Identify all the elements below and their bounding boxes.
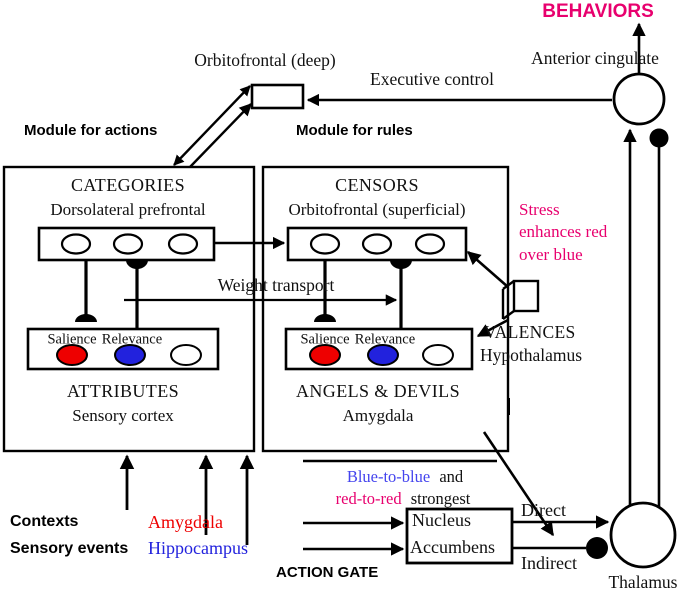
angels-devils-node-relevance	[368, 345, 398, 365]
attributes-node-neutral	[171, 345, 201, 365]
categories-title: CATEGORIES	[71, 175, 185, 195]
orbitofrontal-to-actions-bidirectional	[174, 86, 250, 165]
figure-canvas: BEHAVIORS Orbitofrontal (deep) Anterior …	[0, 0, 677, 599]
thalamus-label: Thalamus	[608, 572, 677, 592]
angels-devils-node-neutral	[423, 345, 453, 365]
attributes-salience-label: Salience	[47, 331, 96, 347]
actions-to-orbitofrontal-arrow	[190, 104, 251, 167]
contexts-label: Contexts	[10, 513, 79, 530]
module-for-actions-label: Module for actions	[24, 122, 157, 139]
strongest-text: strongest	[411, 489, 471, 508]
module-for-rules-label: Module for rules	[296, 122, 413, 139]
hypothalamus-label: Hypothalamus	[480, 345, 582, 365]
valences-box	[514, 281, 538, 311]
stress-label-line1: Stress	[519, 200, 560, 219]
anterior-cingulate-label: Anterior cingulate	[531, 48, 659, 68]
censors-title: CENSORS	[335, 175, 419, 195]
behaviors-title: BEHAVIORS	[542, 1, 654, 22]
and-text: and	[439, 467, 464, 486]
amygdala-input-label: Amygdala	[148, 512, 223, 532]
angels-devils-salience-label: Salience	[300, 331, 349, 347]
indirect-pathway-terminal	[586, 537, 608, 559]
categories-subtitle: Dorsolateral prefrontal	[50, 200, 206, 219]
angels-devils-title: ANGELS & DEVILS	[296, 381, 460, 401]
nucleus-label: Nucleus	[412, 510, 471, 530]
action-gate-label: ACTION GATE	[276, 564, 378, 581]
stress-label-line2: enhances red	[519, 222, 608, 241]
weight-transport-label: Weight transport	[218, 275, 335, 295]
cingulate-inhibitory-terminal	[650, 129, 669, 148]
direct-label: Direct	[521, 500, 566, 520]
angels-devils-relevance-label: Relevance	[355, 331, 415, 347]
blue-to-blue-annotation: Blue-to-blue and	[347, 467, 464, 486]
categories-node-3	[169, 235, 197, 254]
diagram-svg: BEHAVIORS Orbitofrontal (deep) Anterior …	[0, 0, 677, 599]
censors-node-2	[363, 235, 391, 254]
attributes-subtitle: Sensory cortex	[72, 406, 174, 425]
valences-label: VALENCES	[484, 322, 576, 342]
attributes-relevance-label: Relevance	[102, 331, 162, 347]
red-to-red-annotation: red-to-red strongest	[336, 489, 471, 508]
censors-node-1	[311, 235, 339, 254]
stress-label-line3: over blue	[519, 245, 583, 264]
censors-node-3	[416, 235, 444, 254]
orbitofrontal-deep-label: Orbitofrontal (deep)	[194, 50, 336, 70]
sensory-events-label: Sensory events	[10, 540, 128, 557]
executive-control-label: Executive control	[370, 69, 494, 89]
angels-devils-node-salience	[310, 345, 340, 365]
anterior-cingulate-node	[614, 74, 664, 124]
hippocampus-input-label: Hippocampus	[148, 538, 248, 558]
indirect-label: Indirect	[521, 553, 577, 573]
categories-node-1	[62, 235, 90, 254]
attributes-node-salience	[57, 345, 87, 365]
attributes-title: ATTRIBUTES	[67, 381, 179, 401]
red-to-red-text: red-to-red	[336, 489, 403, 508]
thalamus-node	[611, 503, 675, 567]
attributes-node-relevance	[115, 345, 145, 365]
accumbens-label: Accumbens	[410, 537, 495, 557]
orbitofrontal-deep-box	[252, 85, 303, 108]
categories-node-2	[114, 235, 142, 254]
angels-devils-subtitle: Amygdala	[343, 406, 414, 425]
blue-to-blue-text: Blue-to-blue	[347, 467, 430, 486]
censors-subtitle: Orbitofrontal (superficial)	[288, 200, 465, 219]
